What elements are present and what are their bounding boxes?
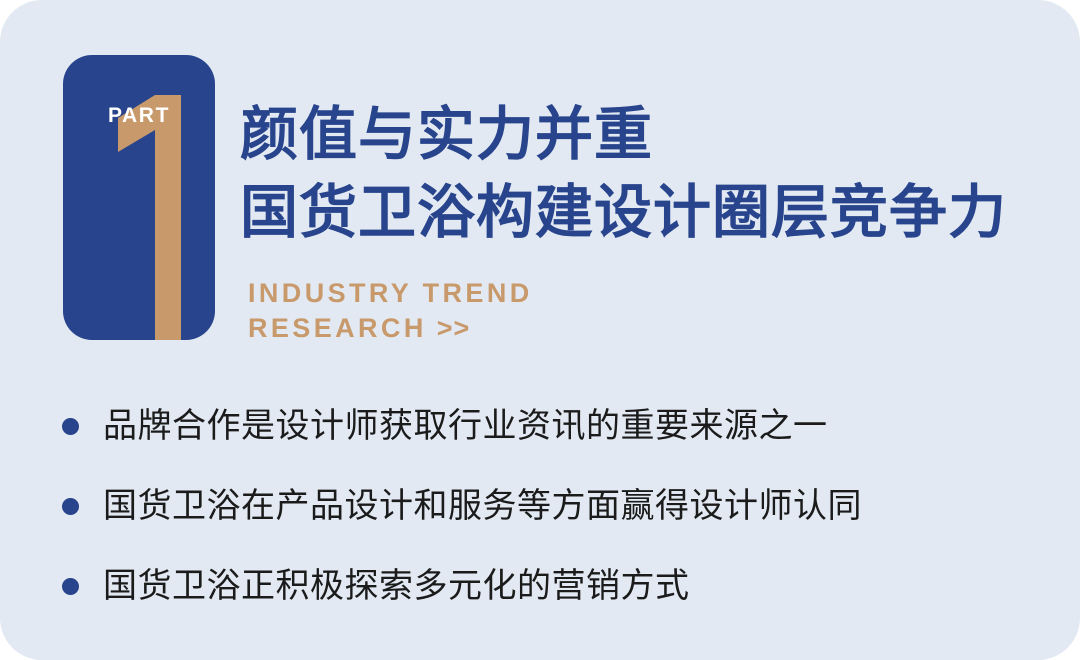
bullet-dot-icon [62, 578, 79, 595]
slide-canvas: PART 颜值与实力并重 国货卫浴构建设计圈层竞争力 INDUSTRY TREN… [0, 0, 1080, 660]
list-item-label: 品牌合作是设计师获取行业资讯的重要来源之一 [103, 406, 828, 447]
subtitle-line-2-wrap: RESEARCH>> [248, 311, 533, 346]
bullet-dot-icon [62, 418, 79, 435]
part-badge: PART [63, 55, 215, 340]
title-line-2: 国货卫浴构建设计圈层竞争力 [240, 174, 1070, 252]
list-item: 国货卫浴正积极探索多元化的营销方式 [62, 546, 1042, 626]
list-item-label: 国货卫浴正积极探索多元化的营销方式 [103, 566, 690, 607]
chevron-double-right-icon: >> [427, 313, 471, 343]
subtitle-line-2: RESEARCH [248, 313, 427, 343]
headline-block: 颜值与实力并重 国货卫浴构建设计圈层竞争力 [240, 96, 1070, 252]
list-item-label: 国货卫浴在产品设计和服务等方面赢得设计师认同 [103, 486, 862, 527]
subtitle-line-1: INDUSTRY TREND [248, 276, 533, 311]
bullet-dot-icon [62, 498, 79, 515]
english-subtitle: INDUSTRY TREND RESEARCH>> [248, 276, 533, 346]
part-label: PART [63, 105, 215, 126]
numeral-one-icon [63, 55, 215, 340]
list-item: 国货卫浴在产品设计和服务等方面赢得设计师认同 [62, 466, 1042, 546]
list-item: 品牌合作是设计师获取行业资讯的重要来源之一 [62, 386, 1042, 466]
title-line-1: 颜值与实力并重 [240, 96, 1070, 174]
bullet-list: 品牌合作是设计师获取行业资讯的重要来源之一 国货卫浴在产品设计和服务等方面赢得设… [62, 386, 1042, 626]
